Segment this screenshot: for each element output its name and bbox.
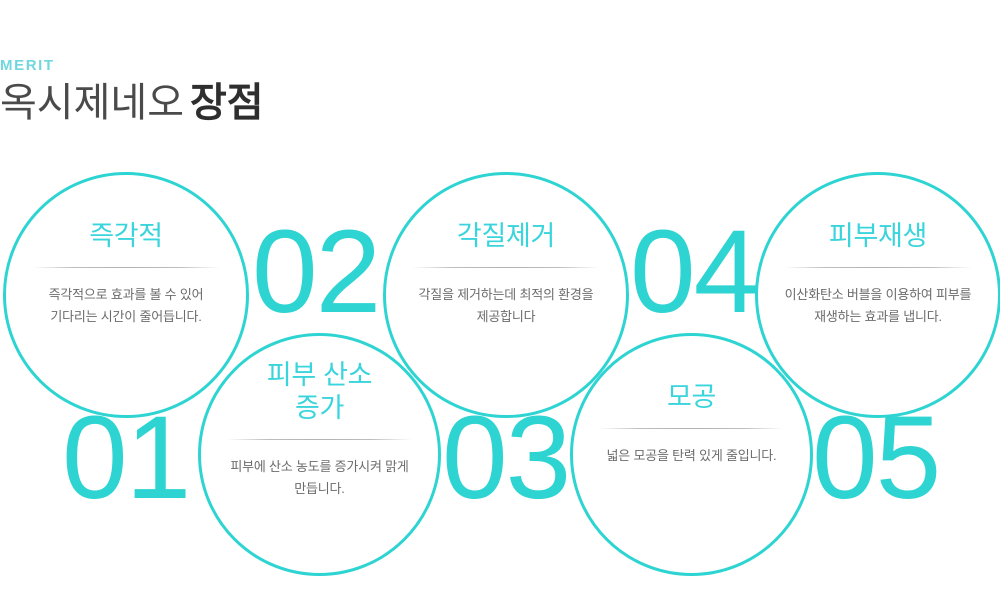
merit-circle-5-title: 피부재생	[829, 220, 927, 253]
divider-rule	[599, 428, 784, 429]
section-header: MERIT 옥시제네오장점	[0, 58, 520, 126]
merit-circle-1-title: 즉각적	[89, 220, 163, 253]
merit-circle-3-content: 각질제거 각질을 제거하는데 최적의 환경을 제공합니다	[412, 175, 599, 329]
step-number-04: 04	[630, 213, 757, 331]
merit-circle-2-title: 피부 산소 증가	[267, 359, 372, 425]
merit-circle-1-content: 즉각적 즉각적으로 효과를 볼 수 있어 기다리는 시간이 줄어듭니다.	[32, 175, 219, 329]
merit-circle-3-description: 각질을 제거하는데 최적의 환경을 제공합니다	[419, 284, 594, 329]
merit-circle-5-content: 피부재생 이산화탄소 버블을 이용하여 피부를 재생하는 효과를 냅니다.	[784, 175, 971, 329]
step-number-02: 02	[252, 213, 379, 331]
page-title-bold: 장점	[190, 81, 264, 125]
merit-circle-1-description: 즉각적으로 효과를 볼 수 있어 기다리는 시간이 줄어듭니다.	[49, 284, 204, 329]
merit-circle-4[interactable]: 모공 넓은 모공을 탄력 있게 줄입니다.	[570, 333, 813, 576]
section-eyebrow: MERIT	[0, 58, 520, 73]
merit-circle-2-content: 피부 산소 증가 피부에 산소 농도를 증가시켜 맑게 만듭니다.	[227, 336, 412, 501]
merit-circle-1[interactable]: 즉각적 즉각적으로 효과를 볼 수 있어 기다리는 시간이 줄어듭니다.	[3, 172, 249, 418]
merit-circle-2[interactable]: 피부 산소 증가 피부에 산소 농도를 증가시켜 맑게 만듭니다.	[198, 333, 441, 576]
merit-circle-4-content: 모공 넓은 모공을 탄력 있게 줄입니다.	[599, 336, 784, 467]
merit-circle-4-title: 모공	[667, 381, 716, 414]
divider-rule	[784, 267, 971, 268]
merit-circle-5-description: 이산화탄소 버블을 이용하여 피부를 재생하는 효과를 냅니다.	[785, 284, 972, 329]
divider-rule	[227, 439, 412, 440]
merit-circle-5[interactable]: 피부재생 이산화탄소 버블을 이용하여 피부를 재생하는 효과를 냅니다.	[755, 172, 1000, 418]
page-title: 옥시제네오장점	[0, 81, 520, 126]
page-title-light: 옥시제네오	[0, 81, 184, 125]
divider-rule	[412, 267, 599, 268]
merit-section: MERIT 옥시제네오장점 01 02 03 04 05 즉각적 즉각적으로 효…	[0, 0, 1000, 602]
merit-circle-2-description: 피부에 산소 농도를 증가시켜 맑게 만듭니다.	[230, 456, 408, 501]
divider-rule	[32, 267, 219, 268]
merit-circle-3[interactable]: 각질제거 각질을 제거하는데 최적의 환경을 제공합니다	[383, 172, 629, 418]
merit-circle-3-title: 각질제거	[457, 220, 555, 253]
merit-circle-4-description: 넓은 모공을 탄력 있게 줄입니다.	[607, 445, 777, 467]
